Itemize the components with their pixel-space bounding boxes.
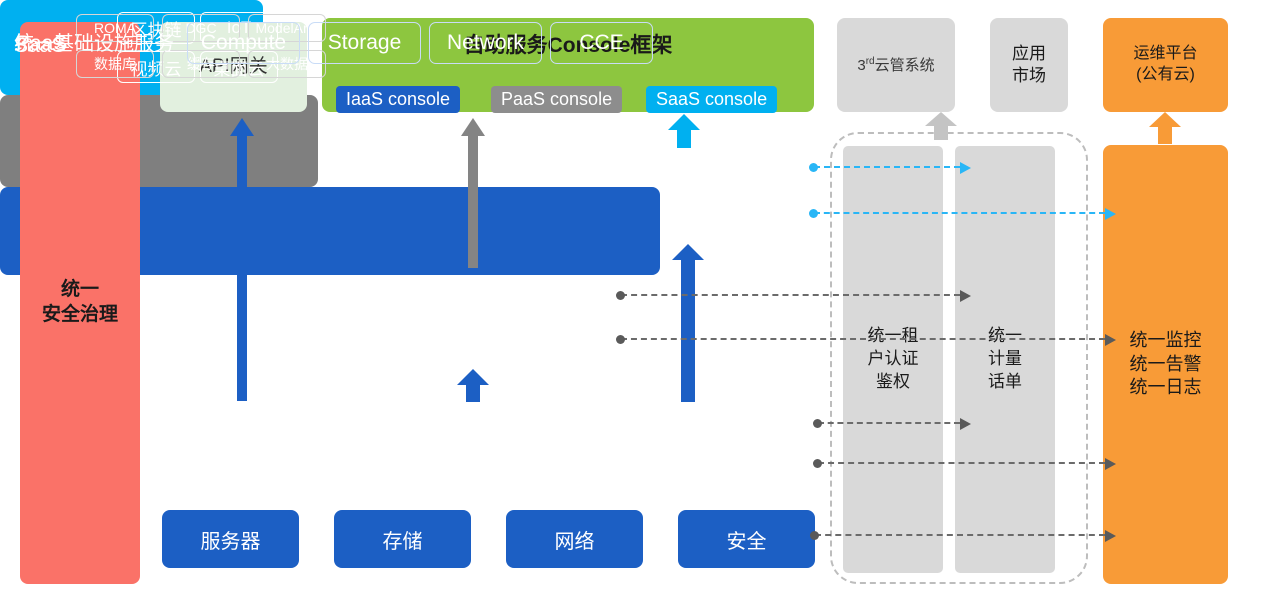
app-market-line2: 市场 xyxy=(1012,65,1046,87)
arrow-head-icon xyxy=(457,369,489,385)
unified-security-governance-panel: 统一 安全治理 xyxy=(20,22,140,584)
resource-security-label: 安全 xyxy=(727,525,767,554)
infra-service-storage[interactable]: Storage xyxy=(308,22,421,64)
arrow-head-icon xyxy=(1105,208,1116,220)
arrow-head-icon xyxy=(1105,458,1116,470)
third-cloud-superscript: rd xyxy=(866,56,875,67)
metering-line3: 话单 xyxy=(988,371,1022,394)
arrow-head-icon xyxy=(960,418,971,430)
architecture-diagram: 统一 安全治理 API网关 自助服务Console框架 IaaS console… xyxy=(0,0,1265,605)
connector-dot xyxy=(809,163,818,172)
dashed-resources-to-ops-platform xyxy=(815,534,1105,536)
unified-tenant-auth-bar: 统一租 户认证 鉴权 xyxy=(843,146,943,573)
infra-compute-label: Compute xyxy=(201,31,286,55)
connector-dot xyxy=(810,531,819,540)
arrow-head-icon xyxy=(1149,112,1181,127)
arrow-head-icon xyxy=(668,114,700,130)
infrastructure-label: 统一基础设施服务 xyxy=(14,27,174,56)
third-cloud-label: 3rd云管系统 xyxy=(857,55,934,76)
arrow-head-icon xyxy=(230,118,254,136)
metering-line1: 统一 xyxy=(988,325,1022,348)
dashed-infra-to-ops-platform xyxy=(818,462,1105,464)
auth-line1: 统一租 xyxy=(868,325,919,348)
arrow-infra-to-paas xyxy=(457,369,489,402)
arrow-shaft xyxy=(466,384,480,402)
infra-cce-label: CCE xyxy=(579,31,623,55)
connector-dot xyxy=(813,419,822,428)
arrow-shaft xyxy=(1158,126,1172,144)
resource-box-network[interactable]: 网络 xyxy=(506,510,643,568)
app-market-box: 应用 市场 xyxy=(990,18,1068,112)
resource-storage-label: 存储 xyxy=(383,525,423,554)
dashed-infra-to-metering xyxy=(818,422,960,424)
connector-dot xyxy=(616,291,625,300)
resource-box-security[interactable]: 安全 xyxy=(678,510,815,568)
ops-platform-header-box: 运维平台 (公有云) xyxy=(1103,18,1228,112)
arrow-head-icon xyxy=(925,112,957,126)
dashed-paas-to-ops-platform xyxy=(621,338,1105,340)
resource-network-label: 网络 xyxy=(555,525,595,554)
arrow-head-icon xyxy=(672,244,704,260)
paas-console-chip[interactable]: PaaS console xyxy=(491,86,622,113)
arrow-head-icon xyxy=(1105,334,1116,346)
unified-metering-billing-bar: 统一 计量 话单 xyxy=(955,146,1055,573)
arrow-shaft xyxy=(934,125,948,140)
infra-service-cce[interactable]: CCE xyxy=(550,22,653,64)
connector-dot xyxy=(616,335,625,344)
infra-service-compute[interactable]: Compute xyxy=(187,22,300,64)
infra-storage-label: Storage xyxy=(328,31,402,55)
ops-platform-line2: (公有云) xyxy=(1133,65,1197,86)
dashed-saas-to-ops-platform xyxy=(814,212,1105,214)
saas-console-label: SaaS console xyxy=(656,88,767,111)
infra-network-label: Network xyxy=(447,31,524,55)
arrow-shaft xyxy=(681,259,695,402)
arrow-head-icon xyxy=(1105,530,1116,542)
iaas-console-label: IaaS console xyxy=(346,88,450,111)
connector-dot xyxy=(809,209,818,218)
infra-service-network[interactable]: Network xyxy=(429,22,542,64)
security-panel-line1: 统一 xyxy=(42,278,118,303)
third-party-cloud-management-box: 3rd云管系统 xyxy=(837,18,955,112)
iaas-console-chip[interactable]: IaaS console xyxy=(336,86,460,113)
auth-line2: 户认证 xyxy=(868,348,919,371)
arrow-shaft xyxy=(468,135,478,268)
arrow-shaft xyxy=(237,135,247,401)
dashed-paas-to-metering xyxy=(621,294,960,296)
ops-platform-line1: 运维平台 xyxy=(1133,44,1197,65)
arrow-saas-to-console xyxy=(668,114,700,148)
dashed-saas-to-metering xyxy=(814,166,960,168)
paas-console-label: PaaS console xyxy=(501,88,612,111)
arrow-infra-to-api-gateway xyxy=(230,118,254,401)
resource-server-label: 服务器 xyxy=(201,525,261,554)
ops-platform-body-box: 统一监控 统一告警 统一日志 xyxy=(1103,145,1228,584)
security-panel-line2: 安全治理 xyxy=(42,303,118,328)
resource-box-storage[interactable]: 存储 xyxy=(334,510,471,568)
ops-body-line2: 统一告警 xyxy=(1130,353,1202,376)
resource-box-server[interactable]: 服务器 xyxy=(162,510,299,568)
arrow-head-icon xyxy=(960,290,971,302)
arrow-shared-to-third-cloud xyxy=(925,112,957,140)
arrow-shared-to-ops-platform xyxy=(1149,112,1181,144)
arrow-head-icon xyxy=(960,162,971,174)
arrow-paas-to-console xyxy=(461,118,485,268)
arrow-infra-to-saas xyxy=(672,244,704,402)
metering-line2: 计量 xyxy=(988,348,1022,371)
connector-dot xyxy=(813,459,822,468)
app-market-line1: 应用 xyxy=(1012,43,1046,65)
auth-line3: 鉴权 xyxy=(868,371,919,394)
saas-console-chip[interactable]: SaaS console xyxy=(646,86,777,113)
arrow-head-icon xyxy=(461,118,485,136)
paas-database-label: 数据库 xyxy=(94,54,136,74)
arrow-shaft xyxy=(677,129,691,148)
ops-body-line1: 统一监控 xyxy=(1130,329,1202,352)
ops-body-line3: 统一日志 xyxy=(1130,376,1202,399)
